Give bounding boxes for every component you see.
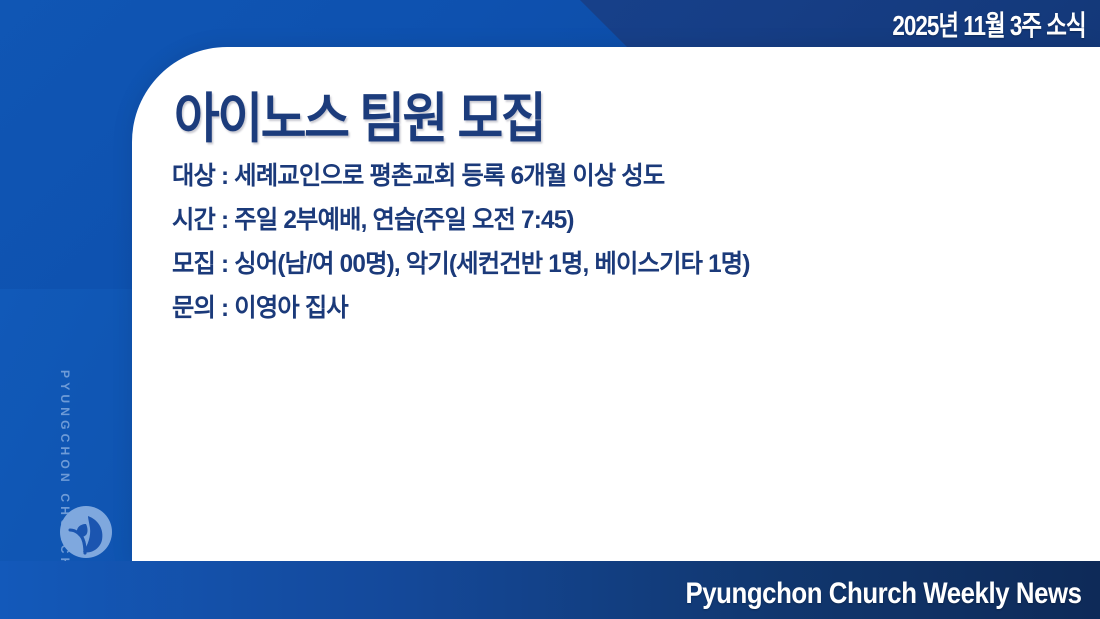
detail-line-target: 대상 : 세례교인으로 평촌교회 등록 6개월 이상 성도 bbox=[172, 154, 1053, 198]
detail-line-contact: 문의 : 이영아 집사 bbox=[172, 286, 1053, 330]
detail-line-recruit: 모집 : 싱어(남/여 00명), 악기(세컨건반 1명, 베이스기타 1명) bbox=[172, 242, 1053, 286]
detail-line-time: 시간 : 주일 2부예배, 연습(주일 오전 7:45) bbox=[172, 198, 1053, 242]
footer-brand-label: Pyungchon Church Weekly News bbox=[686, 577, 1082, 611]
header-date-label: 2025년 11월 3주 소식 bbox=[893, 4, 1086, 44]
detail-list: 대상 : 세례교인으로 평촌교회 등록 6개월 이상 성도 시간 : 주일 2부… bbox=[172, 154, 1080, 330]
slide-canvas: 2025년 11월 3주 소식 PYUNGCHON CHURCH 아이노스 팀원… bbox=[0, 0, 1100, 619]
content-card: 아이노스 팀원 모집 대상 : 세례교인으로 평촌교회 등록 6개월 이상 성도… bbox=[132, 47, 1100, 564]
page-title: 아이노스 팀원 모집 bbox=[174, 74, 544, 153]
church-leaf-logo-icon bbox=[58, 504, 114, 560]
footer-band: Pyungchon Church Weekly News bbox=[0, 561, 1100, 619]
